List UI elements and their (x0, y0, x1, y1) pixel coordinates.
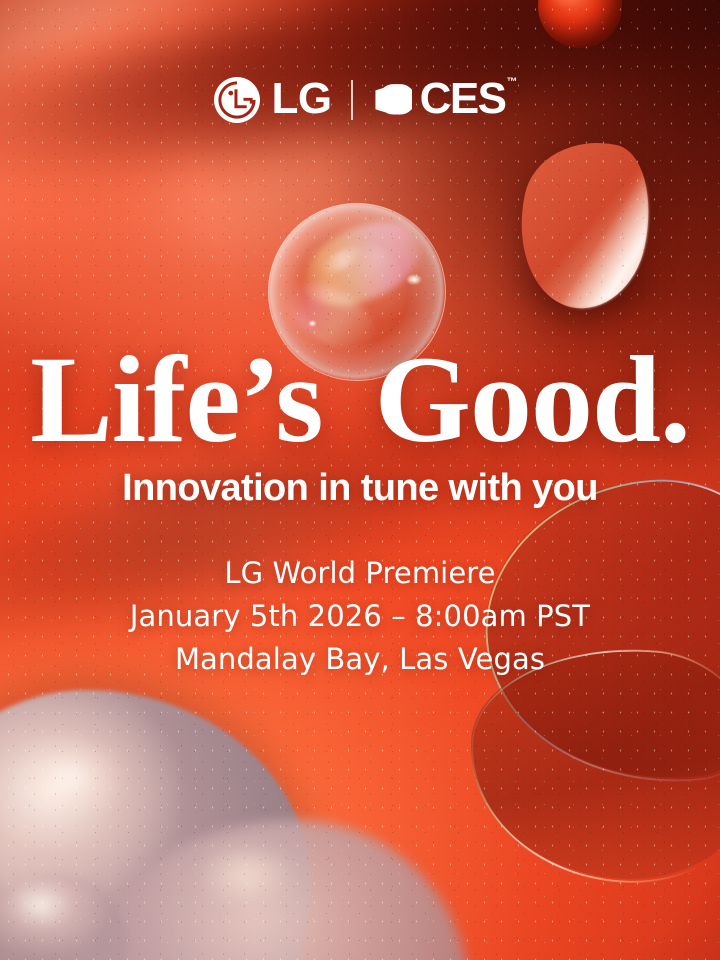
tagline: Innovation in tune with you (0, 468, 720, 510)
logo-lockup-row: LG CES ™ (0, 74, 720, 126)
event-datetime: January 5th 2026 – 8:00am PST (0, 595, 720, 638)
lg-ces-key-visual-poster: LG CES ™ Life’sGood. Innovation in tune … (0, 0, 720, 960)
event-venue: Mandalay Bay, Las Vegas (0, 638, 720, 681)
lg-face-circle-icon (214, 77, 260, 123)
lg-wordmark: LG (271, 77, 331, 121)
poster-content: LG CES ™ Life’sGood. Innovation in tune … (0, 0, 720, 960)
ces-wordmark: CES (420, 77, 506, 121)
event-name: LG World Premiere (0, 552, 720, 595)
lg-logo: LG (214, 77, 331, 123)
ces-logo: CES ™ (372, 78, 506, 122)
headline-part-two: Good. (375, 331, 690, 468)
ces-bubble-icon (372, 82, 412, 118)
headline-part-one: Life’s (30, 331, 322, 468)
vertical-divider-icon (351, 80, 353, 120)
page-title: Life’sGood. (0, 338, 720, 462)
event-details: LG World Premiere January 5th 2026 – 8:0… (0, 552, 720, 681)
trademark-symbol: ™ (507, 76, 518, 88)
